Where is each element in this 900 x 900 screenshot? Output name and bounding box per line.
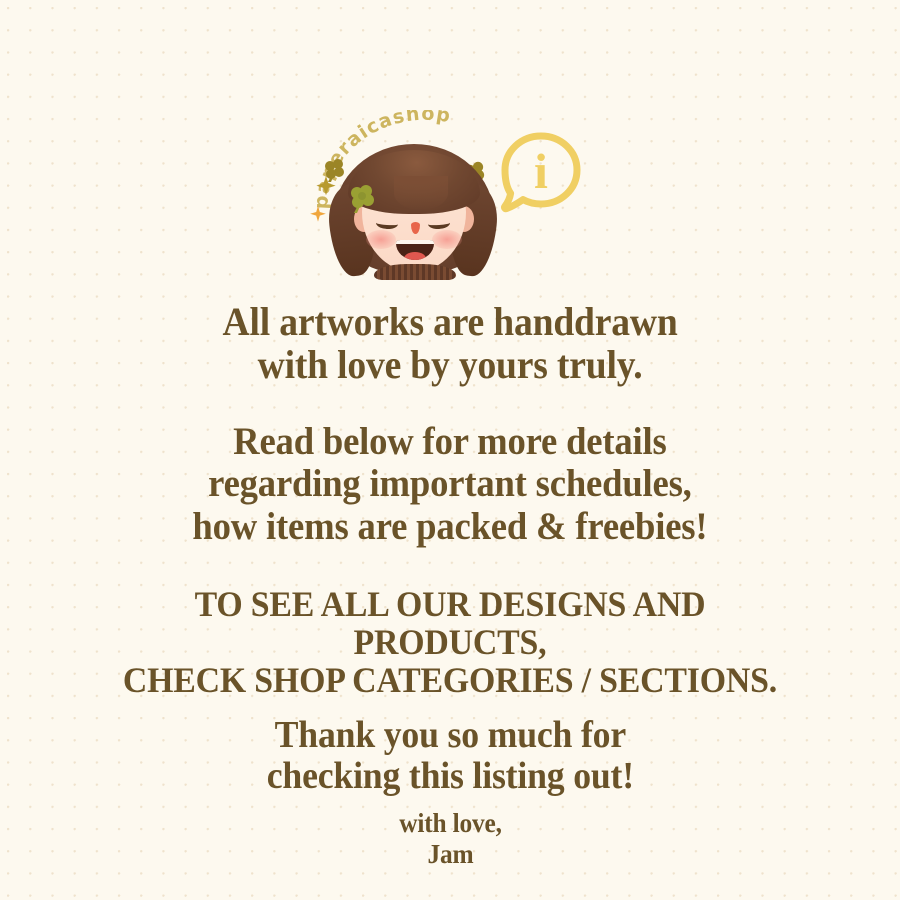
signature-line-1: with love,: [399, 808, 501, 839]
avatar-blush-left: [366, 230, 396, 249]
clover-hairpin-icon: [345, 182, 379, 216]
read-more-line-2: regarding important schedules,: [193, 463, 708, 505]
thanks-message: Thank you so much for checking this list…: [266, 715, 633, 797]
read-more-message: Read below for more details regarding im…: [193, 421, 708, 547]
designs-line-1: TO SEE ALL OUR DESIGNS AND: [123, 585, 777, 623]
designs-line-2: PRODUCTS,: [123, 623, 777, 661]
designs-line-3: CHECK SHOP CATEGORIES / SECTIONS.: [123, 661, 777, 699]
message-area: All artworks are handdrawn with love by …: [0, 278, 900, 870]
logo-cluster: paperaicashop: [300, 118, 600, 278]
avatar-collar: [374, 264, 456, 280]
signature: with love, Jam: [399, 808, 501, 870]
thanks-line-2: checking this listing out!: [266, 756, 633, 797]
info-letter: i: [534, 143, 548, 199]
avatar: [328, 138, 500, 278]
designs-message: TO SEE ALL OUR DESIGNS AND PRODUCTS, CHE…: [123, 585, 777, 699]
announcement-card: paperaicashop: [0, 0, 900, 900]
intro-line-2: with love by yours truly.: [222, 343, 677, 386]
thanks-line-1: Thank you so much for: [266, 715, 633, 756]
avatar-blush-right: [432, 230, 462, 249]
info-icon[interactable]: i: [498, 130, 584, 222]
intro-line-1: All artworks are handdrawn: [222, 300, 677, 343]
intro-message: All artworks are handdrawn with love by …: [222, 300, 677, 386]
read-more-line-3: how items are packed & freebies!: [193, 506, 708, 548]
logo-header: paperaicashop: [0, 118, 900, 278]
signature-line-2: Jam: [399, 839, 501, 870]
read-more-line-1: Read below for more details: [193, 421, 708, 463]
